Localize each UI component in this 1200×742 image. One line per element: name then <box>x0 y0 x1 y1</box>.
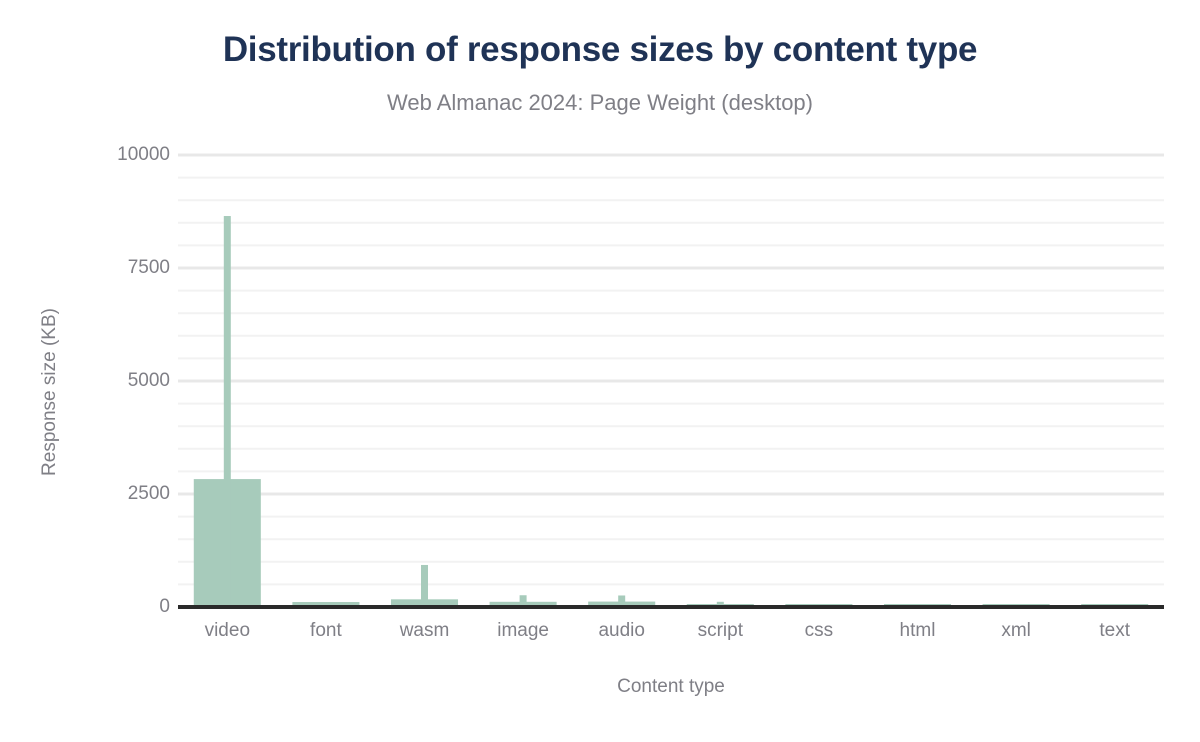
error-bar <box>224 216 231 607</box>
y-tick-label: 0 <box>50 596 170 618</box>
x-tick-label: font <box>310 620 342 642</box>
y-tick-label: 5000 <box>50 370 170 392</box>
x-tick-label: xml <box>1001 620 1031 642</box>
x-tick-label: video <box>205 620 250 642</box>
x-tick-label: css <box>805 620 834 642</box>
x-tick-label: image <box>497 620 549 642</box>
x-tick-label: script <box>698 620 743 642</box>
error-bar <box>421 565 428 607</box>
bar-series <box>194 479 1148 607</box>
y-tick-label: 2500 <box>50 483 170 505</box>
gridlines-major <box>178 155 1164 494</box>
y-tick-label: 7500 <box>50 257 170 279</box>
x-tick-label: text <box>1099 620 1130 642</box>
error-bar-series <box>224 216 921 607</box>
x-tick-label: html <box>900 620 936 642</box>
y-tick-label: 10000 <box>50 144 170 166</box>
x-tick-label: wasm <box>400 620 450 642</box>
x-tick-label: audio <box>598 620 645 642</box>
chart-figure: Distribution of response sizes by conten… <box>0 0 1200 742</box>
